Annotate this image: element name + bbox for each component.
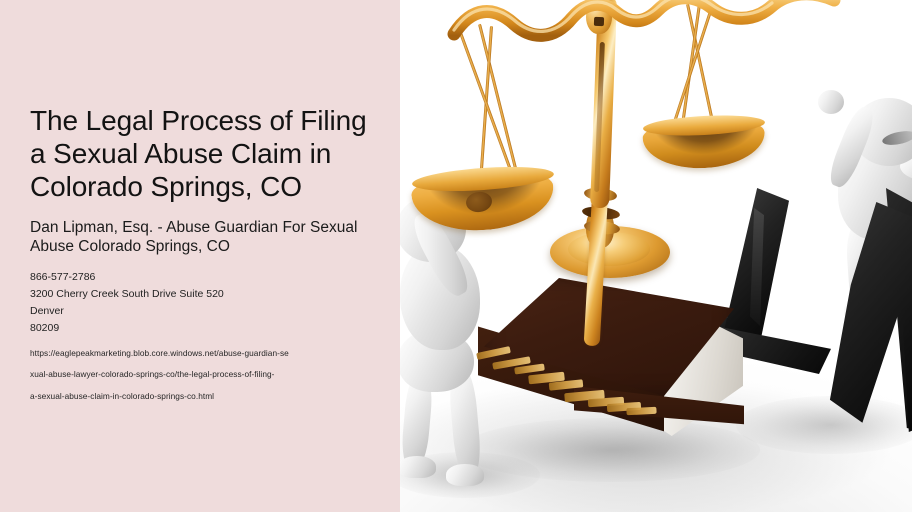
contact-block: 866-577-2786 3200 Cherry Creek South Dri… xyxy=(30,269,384,337)
contact-street: 3200 Cherry Creek South Drive Suite 520 xyxy=(30,286,384,303)
source-url-line-3: a-sexual-abuse-claim-in-colorado-springs… xyxy=(30,386,380,407)
contact-postal-code: 80209 xyxy=(30,320,384,337)
illustration-stage xyxy=(400,0,912,512)
page-subtitle: Dan Lipman, Esq. - Abuse Guardian For Se… xyxy=(30,219,384,257)
page-title: The Legal Process of Filing a Sexual Abu… xyxy=(30,105,384,203)
illustration-panel xyxy=(400,0,912,512)
contact-phone: 866-577-2786 xyxy=(30,269,384,286)
header-banner: The Legal Process of Filing a Sexual Abu… xyxy=(0,0,912,512)
source-url-line-2: xual-abuse-lawyer-colorado-springs-co/th… xyxy=(30,364,380,385)
scales-of-justice xyxy=(400,0,912,512)
scales-beam xyxy=(420,0,900,70)
source-url[interactable]: https://eaglepeakmarketing.blob.core.win… xyxy=(30,343,380,406)
source-url-line-1: https://eaglepeakmarketing.blob.core.win… xyxy=(30,343,380,364)
text-panel: The Legal Process of Filing a Sexual Abu… xyxy=(0,0,400,512)
contact-city: Denver xyxy=(30,303,384,320)
